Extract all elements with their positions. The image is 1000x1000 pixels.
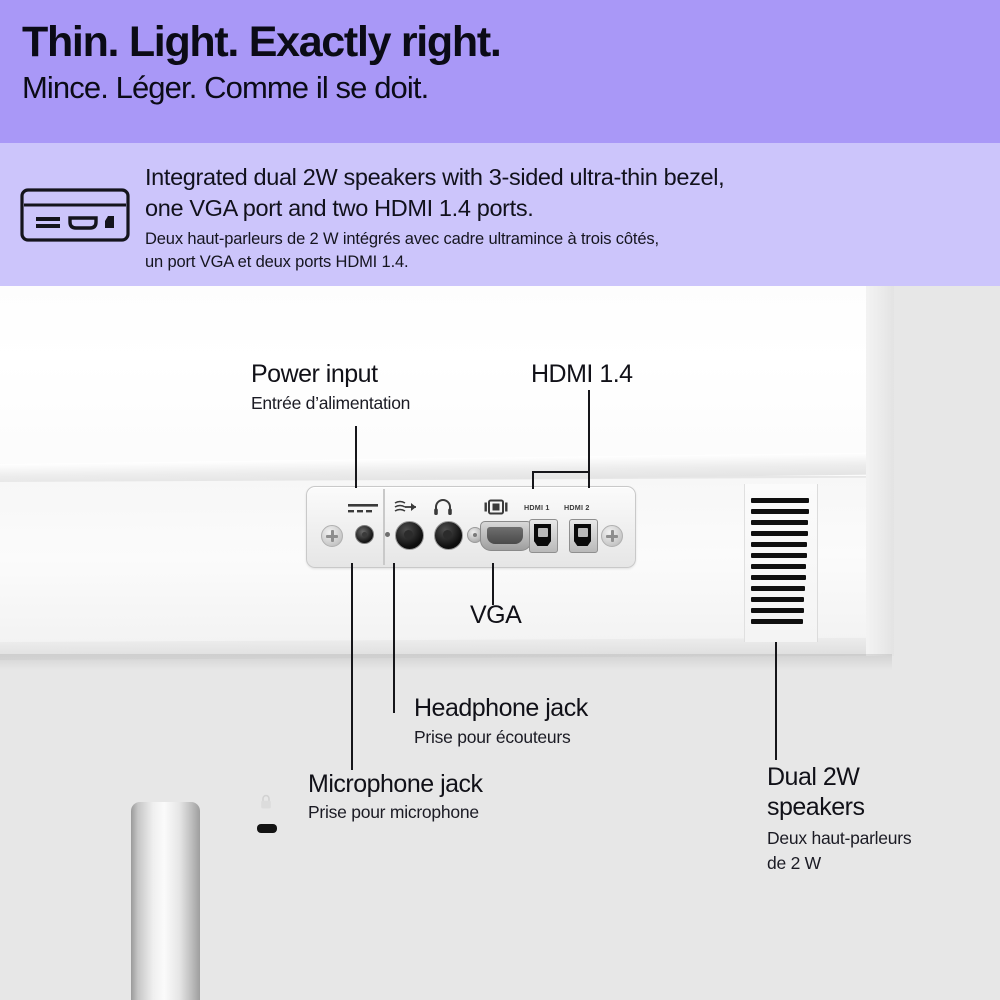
leader-hdmi2 (532, 471, 534, 489)
callout-vga-title: VGA (470, 601, 521, 630)
feature-text-fr-line2: un port VGA et deux ports HDMI 1.4. (145, 251, 965, 274)
padlock-icon (259, 794, 273, 810)
hdmi1-tongue (538, 528, 548, 537)
callout-headphone-subtitle: Prise pour écouteurs (414, 726, 570, 748)
callout-microphone-title: Microphone jack (308, 770, 483, 799)
feature-text-en: Integrated dual 2W speakers with 3-sided… (145, 162, 965, 224)
callout-speakers-subtitle-line2: de 2 W (767, 852, 821, 874)
feature-text-fr: Deux haut-parleurs de 2 W intégrés avec … (145, 228, 965, 274)
io-port-panel: HDMI 1 HDMI 2 (306, 486, 636, 568)
leader-microphone (351, 563, 353, 770)
leader-hdmi1 (588, 390, 590, 488)
monitor-stand-column (131, 802, 200, 1000)
monitor-back-upper (0, 286, 892, 476)
hdmi2-label: HDMI 2 (564, 503, 590, 512)
monitor-bottom-shadow (0, 654, 892, 670)
hdmi2-tongue (578, 528, 588, 537)
leader-vga (492, 563, 494, 605)
io-panel-divider (383, 489, 385, 565)
monitor-right-edge (866, 286, 894, 656)
kensington-lock-slot (257, 824, 277, 833)
dc-power-jack (355, 525, 374, 544)
panel-screw-right (601, 525, 623, 547)
infographic-page: Thin. Light. Exactly right. Mince. Léger… (0, 0, 1000, 1000)
callout-headphone-title: Headphone jack (414, 694, 588, 723)
microphone-icon (393, 498, 419, 521)
vga-shell (480, 521, 532, 551)
callout-microphone-subtitle: Prise pour microphone (308, 801, 479, 823)
feature-text-fr-line1: Deux haut-parleurs de 2 W intégrés avec … (145, 228, 965, 251)
hdmi2-port (569, 519, 598, 553)
dc-power-icon (347, 501, 379, 519)
headline-en: Thin. Light. Exactly right. (22, 18, 962, 66)
power-led (385, 532, 390, 537)
vga-display-icon (483, 499, 509, 520)
headphone-jack-port (434, 521, 463, 550)
callout-power-input-title: Power input (251, 360, 378, 389)
headphone-icon (433, 499, 453, 521)
callout-speakers-title-line1: Dual 2W (767, 763, 859, 792)
io-ports-icon (20, 188, 130, 242)
leader-speakers (775, 642, 777, 760)
callout-power-input-subtitle: Entrée d’alimentation (251, 392, 410, 414)
leader-headphone (393, 563, 395, 713)
microphone-jack-port (395, 521, 424, 550)
hdmi1-label: HDMI 1 (524, 503, 550, 512)
callout-speakers-subtitle-line1: Deux haut-parleurs (767, 827, 911, 849)
panel-screw-left (321, 525, 343, 547)
vga-pin-cavity (487, 527, 523, 544)
product-photo: HDMI 1 HDMI 2 (0, 286, 1000, 1000)
callout-hdmi-title: HDMI 1.4 (531, 360, 633, 389)
callout-speakers-title-line2: speakers (767, 793, 864, 822)
feature-text-en-line2: one VGA port and two HDMI 1.4 ports. (145, 193, 965, 224)
ventilation-grille (744, 484, 818, 642)
leader-power-input (355, 426, 357, 488)
leader-hdmi-bracket (532, 471, 590, 473)
hdmi1-port (529, 519, 558, 553)
headline-fr: Mince. Léger. Comme il se doit. (22, 70, 962, 106)
feature-text-en-line1: Integrated dual 2W speakers with 3-sided… (145, 162, 965, 193)
